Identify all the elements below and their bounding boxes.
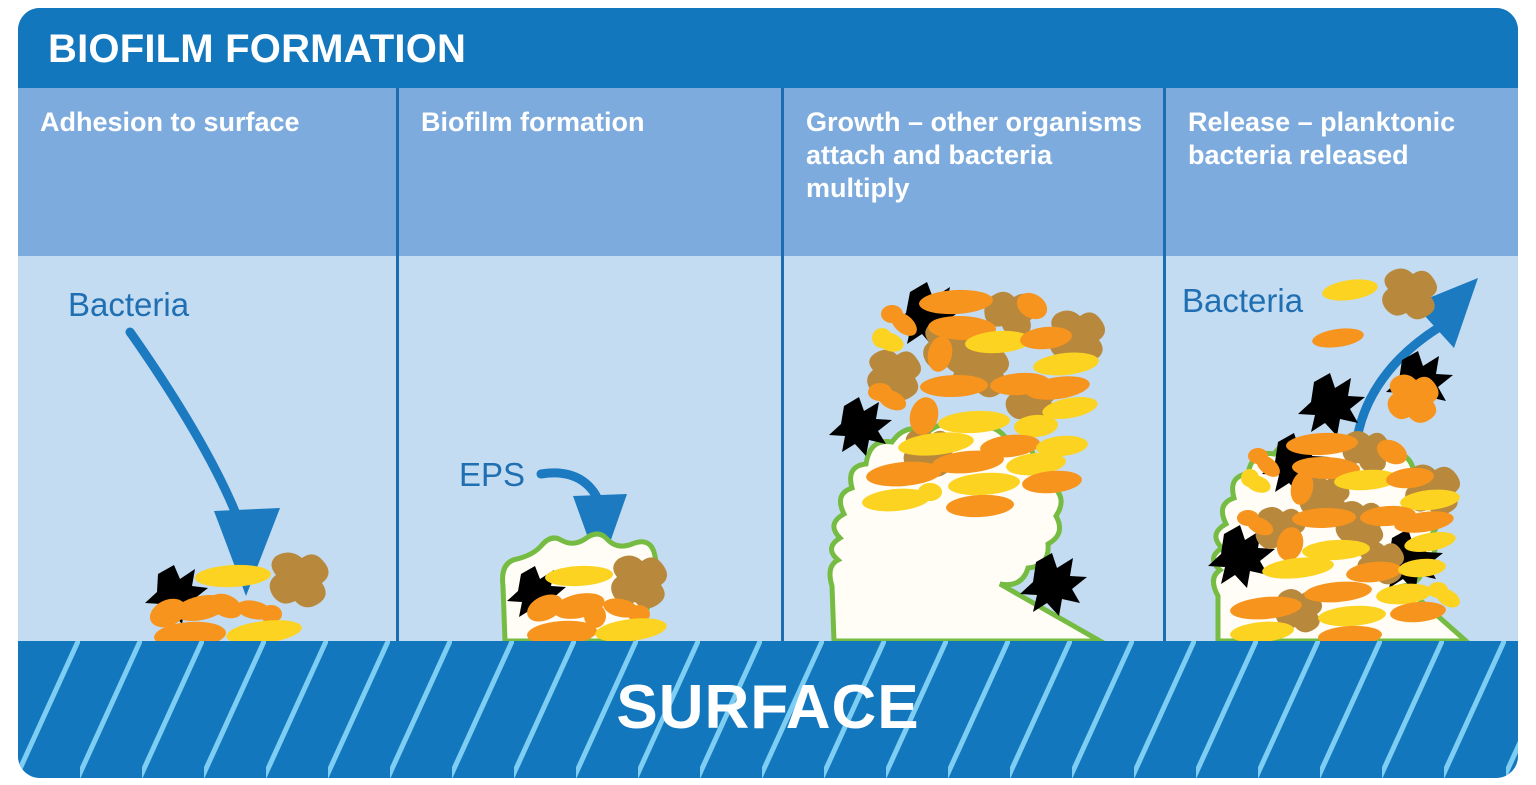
surface-band: SURFACE bbox=[18, 641, 1518, 778]
stage-illustration-row: Bacteria bbox=[18, 256, 1518, 641]
stage-illustration-adhesion: Bacteria bbox=[18, 256, 396, 641]
curved-down-arrow-icon-stage1 bbox=[130, 332, 280, 596]
stage-caption-adhesion: Adhesion to surface bbox=[18, 88, 396, 256]
stage-illustration-release: Bacteria bbox=[1163, 256, 1518, 641]
stage-caption-growth: Growth – other organisms attach and bact… bbox=[781, 88, 1163, 256]
surface-label: SURFACE bbox=[18, 675, 1518, 741]
bacteria-label-stage1: Bacteria bbox=[68, 286, 190, 323]
stage-caption-release: Release – planktonic bacteria released bbox=[1163, 88, 1518, 256]
stage-caption-row: Adhesion to surface Biofilm formation Gr… bbox=[18, 88, 1518, 256]
diagram-title-bar: BIOFILM FORMATION bbox=[18, 8, 1518, 88]
stage-illustration-growth bbox=[781, 256, 1163, 641]
stage-caption-biofilm-formation: Biofilm formation bbox=[396, 88, 781, 256]
bacteria-colony-stage1 bbox=[145, 552, 329, 641]
planktonic-bacteria-stage4 bbox=[1298, 268, 1453, 436]
eps-label: EPS bbox=[459, 456, 525, 493]
page-title: BIOFILM FORMATION bbox=[48, 27, 466, 71]
stage-illustration-biofilm-formation: EPS bbox=[396, 256, 781, 641]
biofilm-diagram-card: BIOFILM FORMATION Adhesion to surface Bi… bbox=[18, 8, 1518, 778]
bacteria-label-stage4: Bacteria bbox=[1182, 282, 1304, 319]
